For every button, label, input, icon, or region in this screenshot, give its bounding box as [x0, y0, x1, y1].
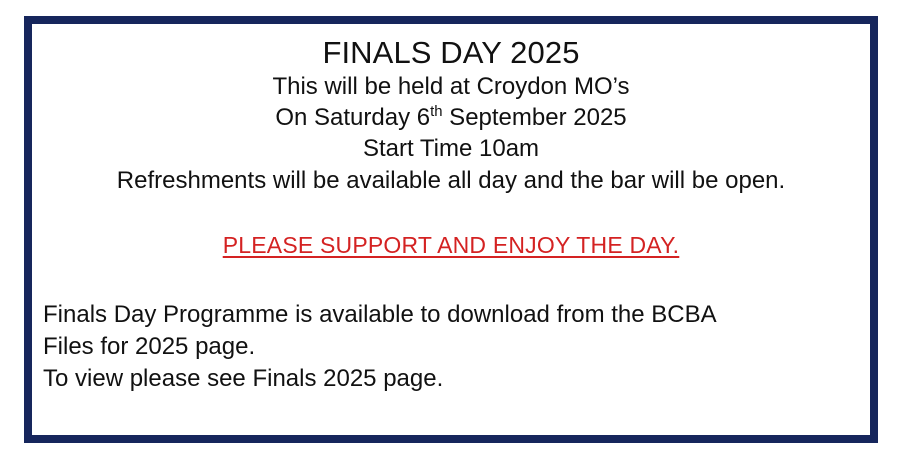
notice-card: FINALS DAY 2025 This will be held at Cro…	[24, 16, 878, 443]
event-date-ordinal-suffix: th	[430, 104, 442, 120]
event-heading-group: FINALS DAY 2025 This will be held at Cro…	[42, 35, 860, 164]
notice-content: FINALS DAY 2025 This will be held at Cro…	[32, 35, 870, 446]
venue-line: This will be held at Croydon MO’s	[42, 71, 860, 102]
page-title: FINALS DAY 2025	[42, 35, 860, 71]
programme-info-block: Finals Day Programme is available to dow…	[42, 299, 860, 395]
programme-line-3: To view please see Finals 2025 page.	[43, 363, 860, 395]
refreshments-line: Refreshments will be available all day a…	[42, 165, 860, 196]
programme-line-1: Finals Day Programme is available to dow…	[43, 299, 860, 331]
event-date-suffix: September 2025	[443, 104, 627, 131]
support-callout: PLEASE SUPPORT AND ENJOY THE DAY.	[42, 231, 860, 259]
event-date-prefix: On Saturday 6	[275, 104, 430, 131]
programme-line-2: Files for 2025 page.	[43, 331, 860, 363]
support-callout-text: PLEASE SUPPORT AND ENJOY THE DAY.	[223, 231, 680, 259]
start-time-line: Start Time 10am	[42, 133, 860, 164]
event-date-line: On Saturday 6th September 2025	[42, 102, 860, 133]
